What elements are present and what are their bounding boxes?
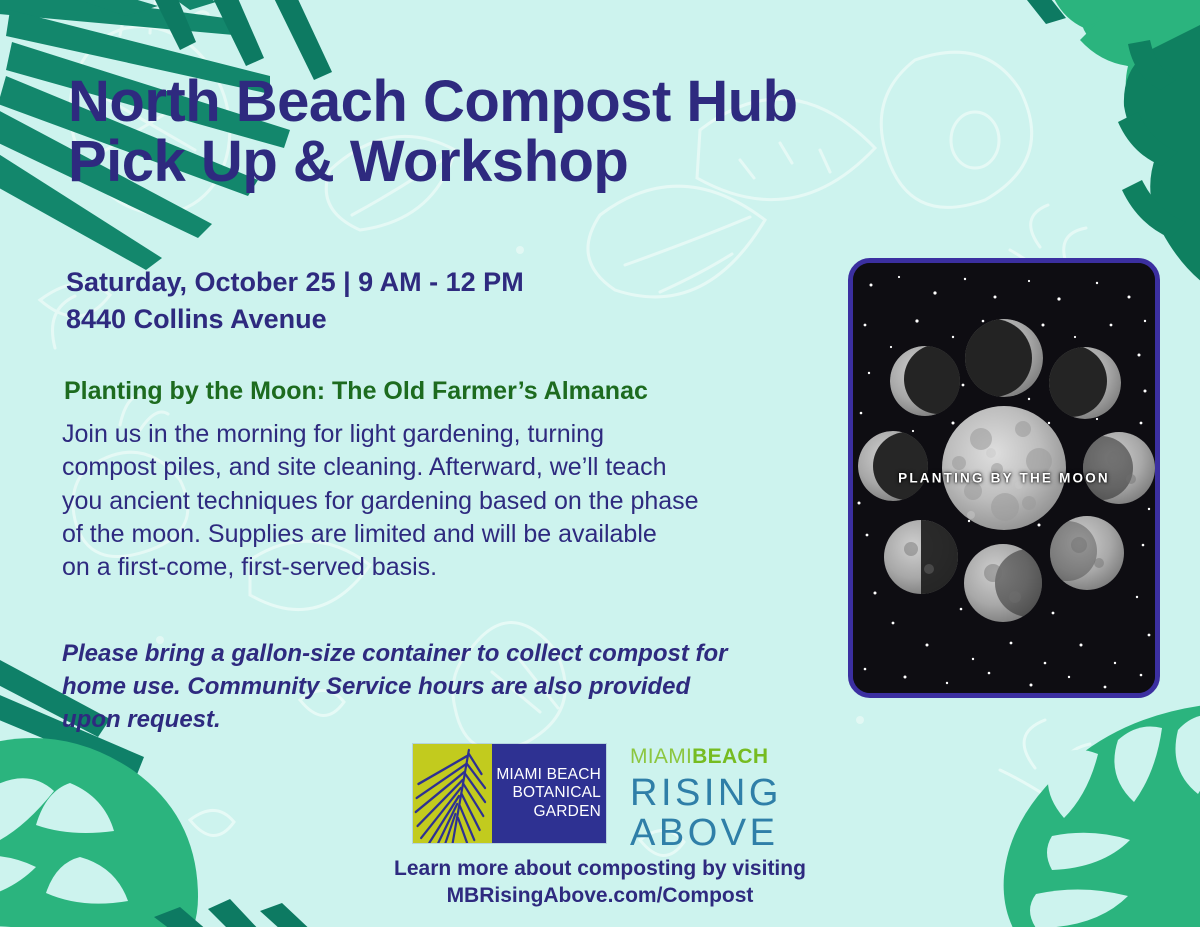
logo-line-1: MIAMI BEACH: [496, 766, 601, 784]
footer-url: MBRisingAbove.com/Compost: [0, 883, 1200, 910]
note-line: Please bring a gallon-size container to …: [62, 638, 852, 671]
moon-phases-card: PLANTING BY THE MOON: [848, 258, 1160, 698]
event-address: 8440 Collins Avenue: [66, 301, 524, 338]
logo-row: MIAMI BEACH BOTANICAL GARDEN MIAMIBEACH …: [413, 744, 782, 852]
logo-line-2: BOTANICAL: [512, 784, 601, 802]
description-line: of the moon. Supplies are limited and wi…: [62, 518, 852, 551]
logo-line-3: GARDEN: [533, 803, 601, 821]
botanical-garden-wordmark: MIAMI BEACH BOTANICAL GARDEN: [492, 744, 606, 843]
workshop-subheading: Planting by the Moon: The Old Farmer’s A…: [64, 377, 648, 406]
workshop-description: Join us in the morning for light gardeni…: [62, 418, 852, 584]
moon-card-caption: PLANTING BY THE MOON: [853, 471, 1155, 486]
miami-beach-botanical-garden-logo: MIAMI BEACH BOTANICAL GARDEN: [413, 744, 606, 843]
description-line: you ancient techniques for gardening bas…: [62, 485, 852, 518]
palm-frond-logo-icon: [413, 744, 492, 843]
note-line: home use. Community Service hours are al…: [62, 671, 852, 704]
attendee-note: Please bring a gallon-size container to …: [62, 638, 852, 737]
note-line: upon request.: [62, 704, 852, 737]
event-flyer: North Beach Compost Hub Pick Up & Worksh…: [0, 0, 1200, 927]
rising-above-word-2: ABOVE: [630, 814, 782, 852]
description-line: on a first-come, first-served basis.: [62, 551, 852, 584]
footer-line-1: Learn more about composting by visiting: [0, 856, 1200, 883]
miami-beach-rising-above-logo: MIAMIBEACH RISING ABOVE: [630, 744, 782, 852]
footer-cta: Learn more about composting by visiting …: [0, 856, 1200, 910]
rising-above-miami: MIAMI: [630, 745, 692, 768]
rising-above-word-1: RISING: [630, 774, 782, 812]
event-details: Saturday, October 25 | 9 AM - 12 PM 8440…: [66, 264, 524, 339]
description-line: Join us in the morning for light gardeni…: [62, 418, 852, 451]
event-datetime: Saturday, October 25 | 9 AM - 12 PM: [66, 264, 524, 301]
title-line-2: Pick Up & Workshop: [68, 132, 1008, 192]
page-title: North Beach Compost Hub Pick Up & Worksh…: [68, 72, 1008, 193]
description-line: compost piles, and site cleaning. Afterw…: [62, 451, 852, 484]
title-line-1: North Beach Compost Hub: [68, 72, 1008, 132]
rising-above-top-line: MIAMIBEACH: [630, 746, 782, 767]
rising-above-beach: BEACH: [692, 745, 768, 768]
